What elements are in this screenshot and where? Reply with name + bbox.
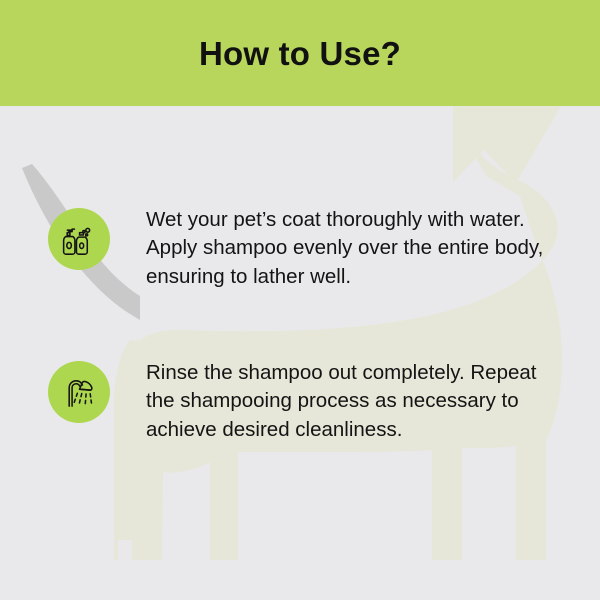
header-band: How to Use? <box>0 0 600 106</box>
steps-list: Wet your pet’s coat thoroughly with wate… <box>0 106 600 600</box>
shampoo-bottles-glyph <box>59 219 99 259</box>
page-title: How to Use? <box>199 37 401 70</box>
step-text: Rinse the shampoo out completely. Repeat… <box>146 359 546 444</box>
shampoo-bottles-icon <box>48 208 110 270</box>
shower-head-glyph <box>59 372 99 412</box>
step-text: Wet your pet’s coat thoroughly with wate… <box>146 206 546 291</box>
step-item: Rinse the shampoo out completely. Repeat… <box>0 359 560 444</box>
shower-head-icon <box>48 361 110 423</box>
step-item: Wet your pet’s coat thoroughly with wate… <box>0 206 560 291</box>
how-to-use-poster: How to Use? <box>0 0 600 600</box>
